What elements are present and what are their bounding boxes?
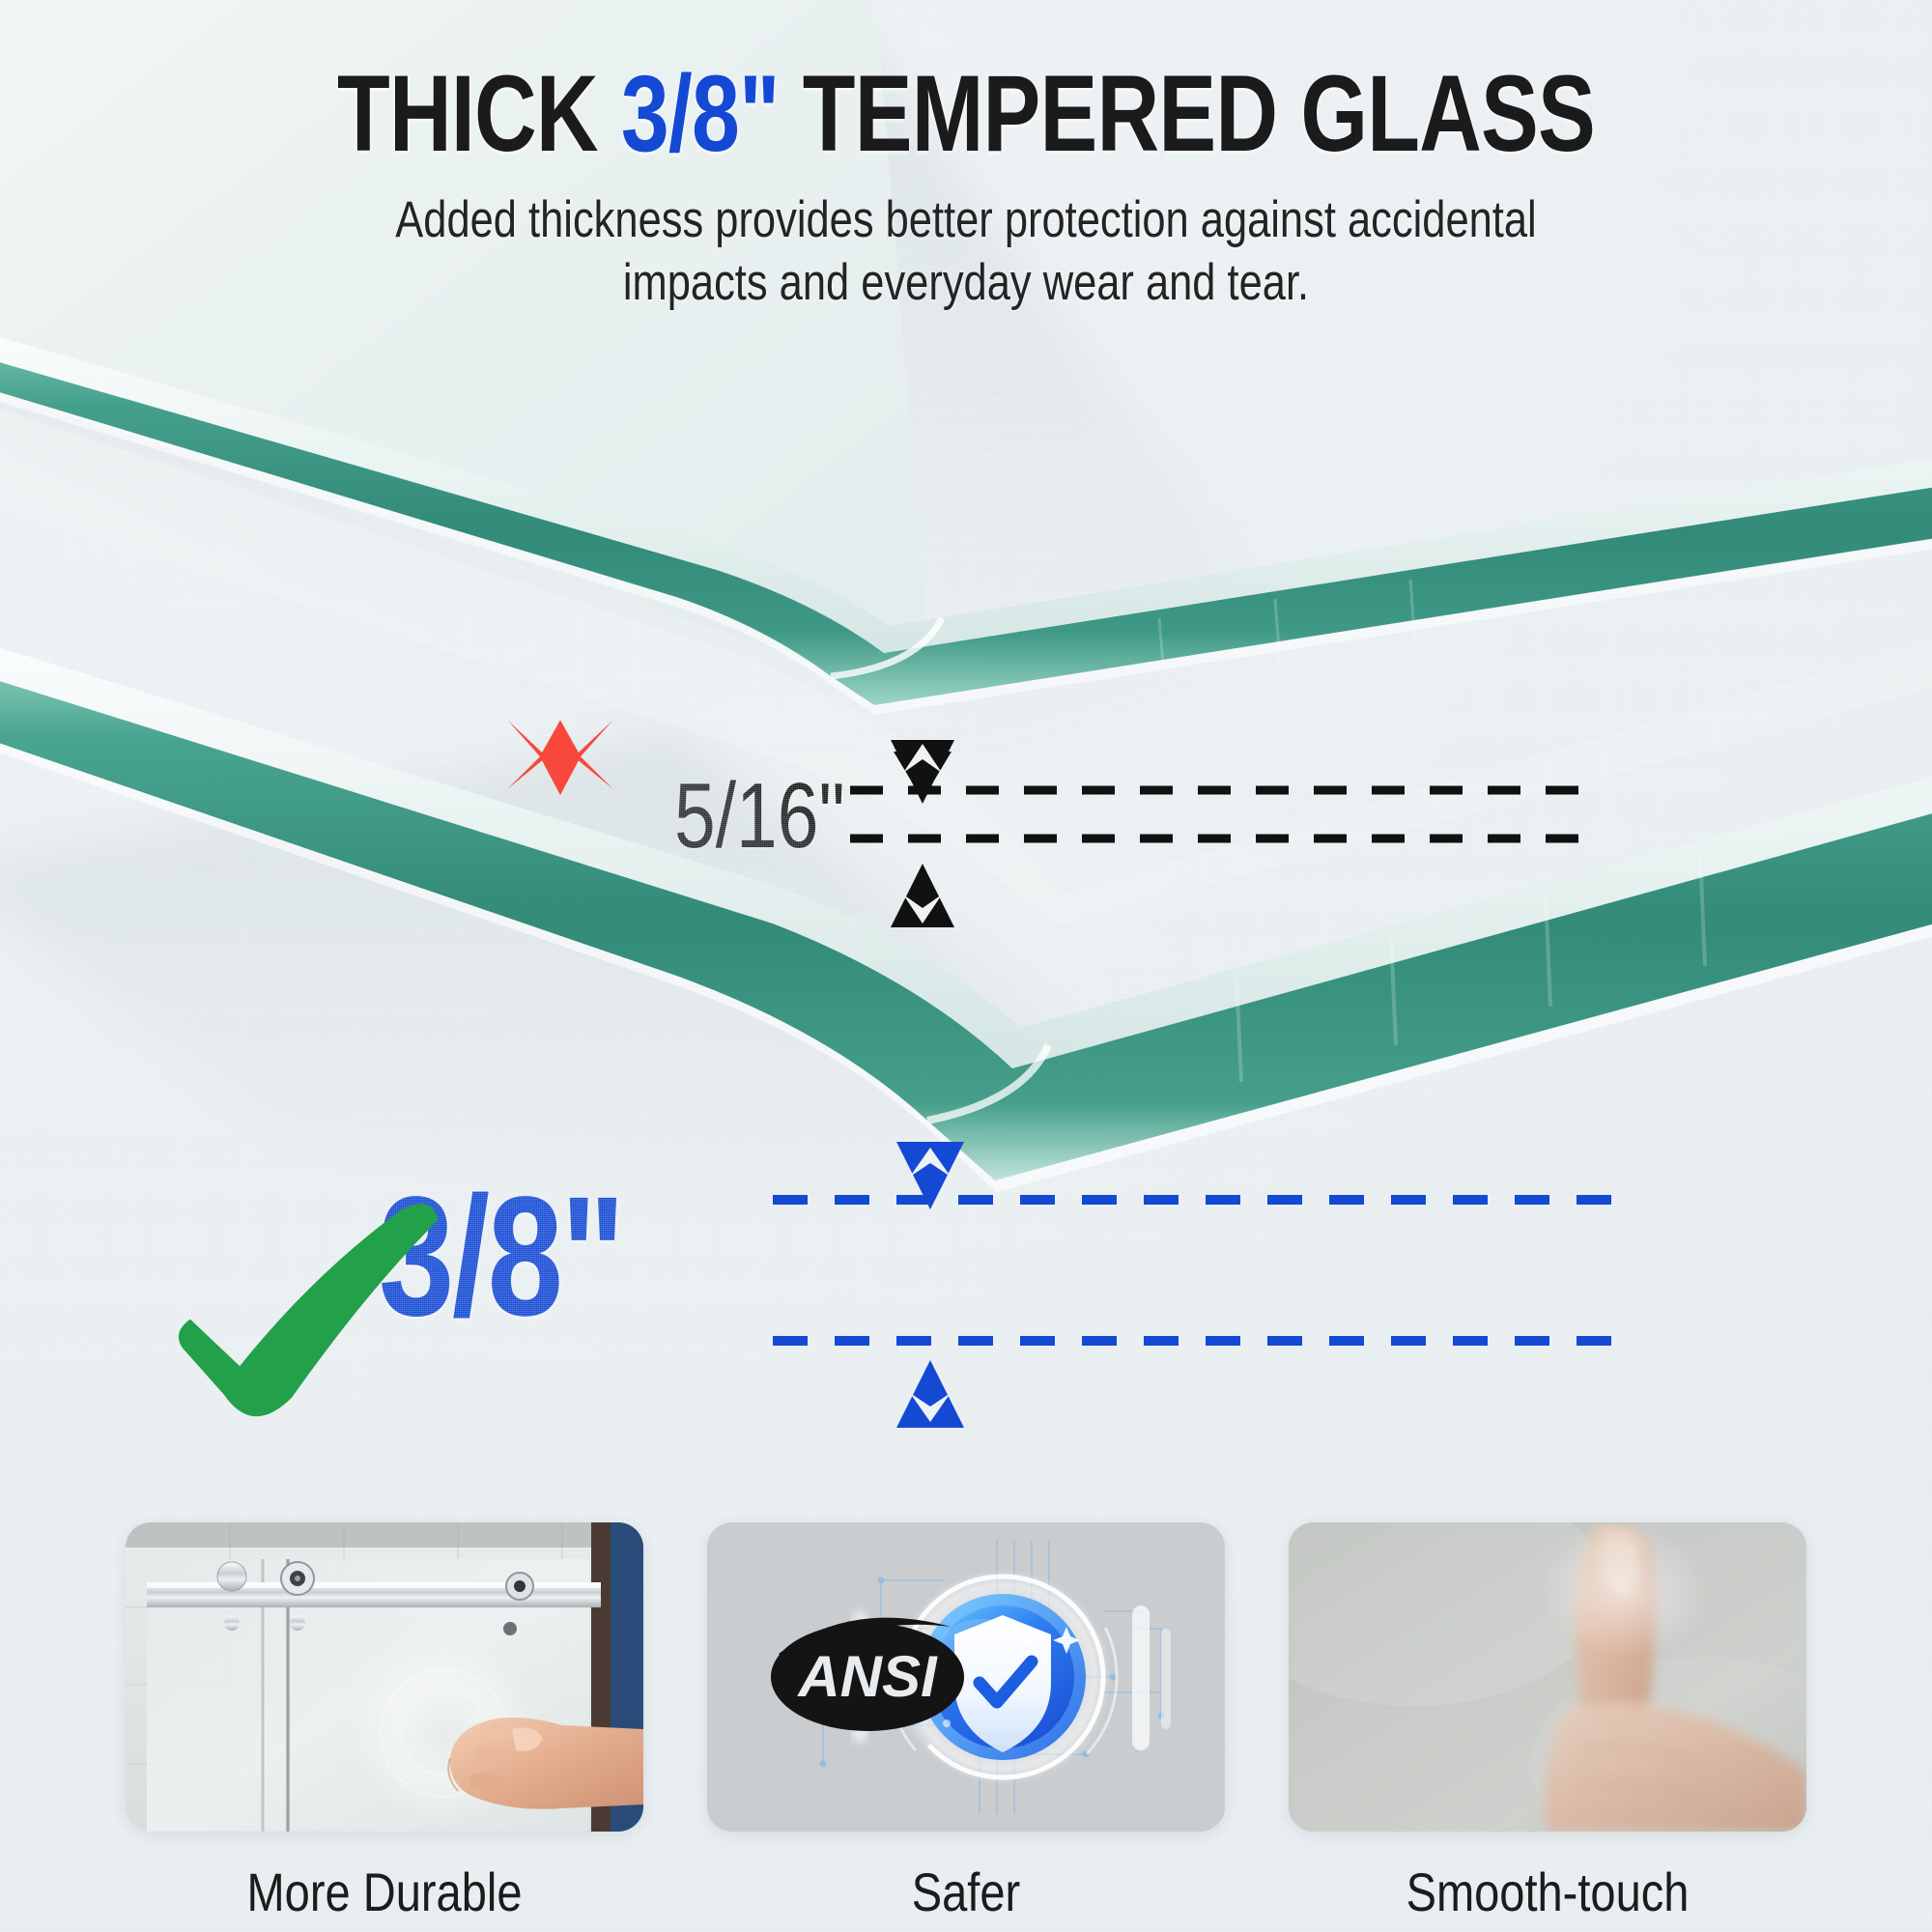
title-thickness-highlight: 3/8" (621, 53, 780, 174)
card-caption-safer: Safer (749, 1861, 1183, 1923)
annotation-thick-glass (179, 1142, 1623, 1428)
finger-on-frosted-glass-photo (1289, 1522, 1806, 1832)
page-title: THICK 3/8" TEMPERED GLASS (193, 60, 1739, 168)
subtitle-line-2: impacts and everyday wear and tear. (174, 252, 1758, 315)
shower-door-fist-photo (126, 1522, 643, 1832)
fist-illustration (448, 1718, 643, 1809)
card-caption-smooth-touch: Smooth-touch (1330, 1861, 1765, 1923)
cross-icon (507, 720, 612, 795)
feature-cards: More Durable (0, 1522, 1932, 1923)
annotation-thin-glass (507, 720, 1604, 927)
subtitle-line-1: Added thickness provides better protecti… (174, 189, 1758, 252)
ansi-shield-badge: ANSI (707, 1522, 1225, 1832)
feature-card-more-durable[interactable]: More Durable (126, 1522, 643, 1923)
title-part-2: TEMPERED GLASS (780, 53, 1595, 174)
feature-card-safer[interactable]: ANSI Safer (707, 1522, 1225, 1923)
feature-card-smooth-touch[interactable]: Smooth-touch (1289, 1522, 1806, 1923)
infographic-canvas: THICK 3/8" TEMPERED GLASS Added thicknes… (0, 0, 1932, 1932)
header-block: THICK 3/8" TEMPERED GLASS Added thicknes… (0, 0, 1932, 314)
ansi-logo-text: ANSI (796, 1644, 938, 1709)
check-icon (179, 1204, 439, 1416)
card-caption-more-durable: More Durable (167, 1861, 602, 1923)
page-subtitle: Added thickness provides better protecti… (174, 189, 1758, 314)
title-part-1: THICK (337, 53, 621, 174)
